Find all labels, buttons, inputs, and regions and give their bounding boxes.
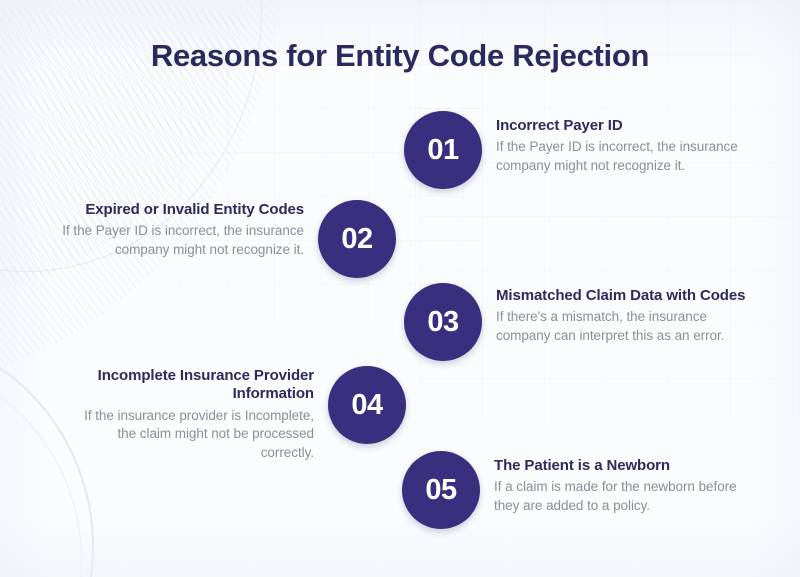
page-title: Reasons for Entity Code Rejection	[0, 38, 800, 74]
list-item-description: If the Payer ID is incorrect, the insura…	[52, 222, 304, 259]
step-number-badge: 02	[318, 200, 396, 278]
list-item-text-group: Incomplete Insurance Provider Informatio…	[62, 366, 314, 462]
step-number-badge: 04	[328, 366, 406, 444]
list-item-title: Incorrect Payer ID	[496, 117, 764, 135]
list-item: Incomplete Insurance Provider Informatio…	[62, 366, 406, 462]
step-number-badge: 03	[404, 283, 482, 361]
list-item-title: Mismatched Claim Data with Codes	[496, 287, 756, 305]
list-item: 03 Mismatched Claim Data with Codes If t…	[404, 283, 756, 361]
list-item: 01 Incorrect Payer ID If the Payer ID is…	[404, 111, 764, 189]
list-item-description: If the insurance provider is Incomplete,…	[62, 407, 314, 463]
list-item-title: Expired or Invalid Entity Codes	[52, 201, 304, 219]
list-item-title: The Patient is a Newborn	[494, 457, 750, 475]
list-item-description: If the Payer ID is incorrect, the insura…	[496, 138, 764, 175]
list-item: Expired or Invalid Entity Codes If the P…	[52, 200, 396, 278]
step-number-badge: 05	[402, 451, 480, 529]
list-item-text-group: Expired or Invalid Entity Codes If the P…	[52, 200, 304, 260]
list-item-text-group: The Patient is a Newborn If a claim is m…	[494, 451, 750, 516]
list-item: 05 The Patient is a Newborn If a claim i…	[402, 451, 750, 529]
list-item-text-group: Incorrect Payer ID If the Payer ID is in…	[496, 111, 764, 176]
list-item-description: If there's a mismatch, the insurance com…	[496, 308, 756, 345]
list-item-title: Incomplete Insurance Provider Informatio…	[62, 367, 314, 404]
list-item-description: If a claim is made for the newborn befor…	[494, 478, 750, 515]
infographic-canvas: Reasons for Entity Code Rejection 01 Inc…	[0, 0, 800, 577]
list-item-text-group: Mismatched Claim Data with Codes If ther…	[496, 283, 756, 346]
step-number-badge: 01	[404, 111, 482, 189]
